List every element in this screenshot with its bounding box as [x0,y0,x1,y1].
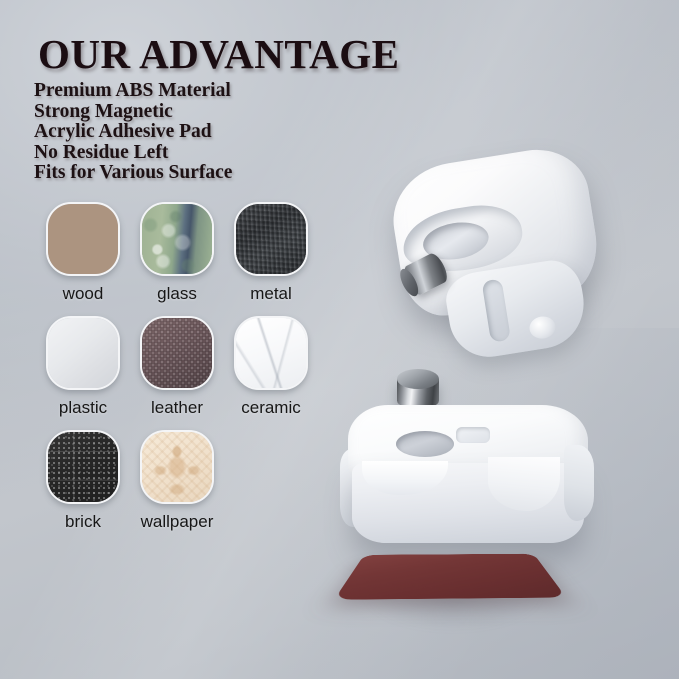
leather-swatch-icon [140,316,214,390]
surface-swatch-grid: wood glass metal plastic [36,202,326,544]
base-tab [456,427,490,443]
wallpaper-texture [142,432,212,502]
swatch-cell-metal: metal [224,202,318,304]
feature-item: No Residue Left [34,143,232,164]
feature-item: Acrylic Adhesive Pad [34,122,232,143]
wallpaper-swatch-icon [140,430,214,504]
base-magnet-socket [396,431,454,457]
base-left-notch [362,461,448,495]
ceramic-texture [236,318,306,388]
product-advantage-banner: OUR ADVANTAGE Premium ABS Material Stron… [0,0,679,679]
page-title: OUR ADVANTAGE [38,30,400,78]
swatch-cell-ceramic: ceramic [224,316,318,418]
magnet-face [397,266,422,299]
swatch-label: ceramic [241,398,301,418]
lower-magnet-cylinder [397,369,439,415]
clamp-stud [528,315,557,341]
swatch-label: leather [151,398,203,418]
acrylic-adhesive-pad [334,554,566,600]
background-corner-shade [287,328,679,679]
plastic-swatch-icon [46,316,120,390]
magnet-body [397,379,439,409]
clamp-body [385,142,604,321]
swatch-label: glass [157,284,197,304]
metal-texture [236,204,306,274]
feature-item: Fits for Various Surface [34,163,232,184]
swatch-cell-glass: glass [130,202,224,304]
wood-swatch-icon [46,202,120,276]
glass-swatch-icon [140,202,214,276]
swatch-cell-brick: brick [36,430,130,532]
adhesive-pad-shadow [362,560,544,630]
swatch-label: brick [65,512,101,532]
leather-texture [142,318,212,388]
feature-list: Premium ABS Material Strong Magnetic Acr… [34,81,232,184]
base-front-face [352,463,584,543]
clamp-cavity [420,218,491,264]
base-left-cap [340,449,366,527]
swatch-label: wallpaper [141,512,214,532]
swatch-row: plastic leather ceramic [36,316,326,418]
swatch-cell-leather: leather [130,316,224,418]
feature-item: Premium ABS Material [34,81,232,102]
glass-texture [142,204,212,274]
base-top-face [348,405,588,491]
feature-item: Strong Magnetic [34,102,232,123]
swatch-label: plastic [59,398,107,418]
swatch-label: metal [250,284,292,304]
magnet-top-face [397,369,439,389]
plastic-texture [48,318,118,388]
clamp-slot [482,278,511,342]
upper-clamp-part [377,134,628,381]
upper-magnet-cylinder [401,251,451,298]
base-right-notch [488,457,560,511]
base-right-cap [564,445,594,521]
swatch-cell-plastic: plastic [36,316,130,418]
brick-swatch-icon [46,430,120,504]
clamp-skirt [442,256,590,362]
swatch-label: wood [63,284,104,304]
swatch-row: wood glass metal [36,202,326,304]
swatch-cell-wallpaper: wallpaper [130,430,224,532]
ceramic-swatch-icon [234,316,308,390]
clamp-rim [398,199,526,279]
swatch-cell-wood: wood [36,202,130,304]
swatch-row: brick wallpaper [36,430,326,532]
magnet-body [401,251,451,298]
wood-texture [48,204,118,274]
lower-base-part [338,405,598,565]
brick-texture [48,432,118,502]
metal-swatch-icon [234,202,308,276]
